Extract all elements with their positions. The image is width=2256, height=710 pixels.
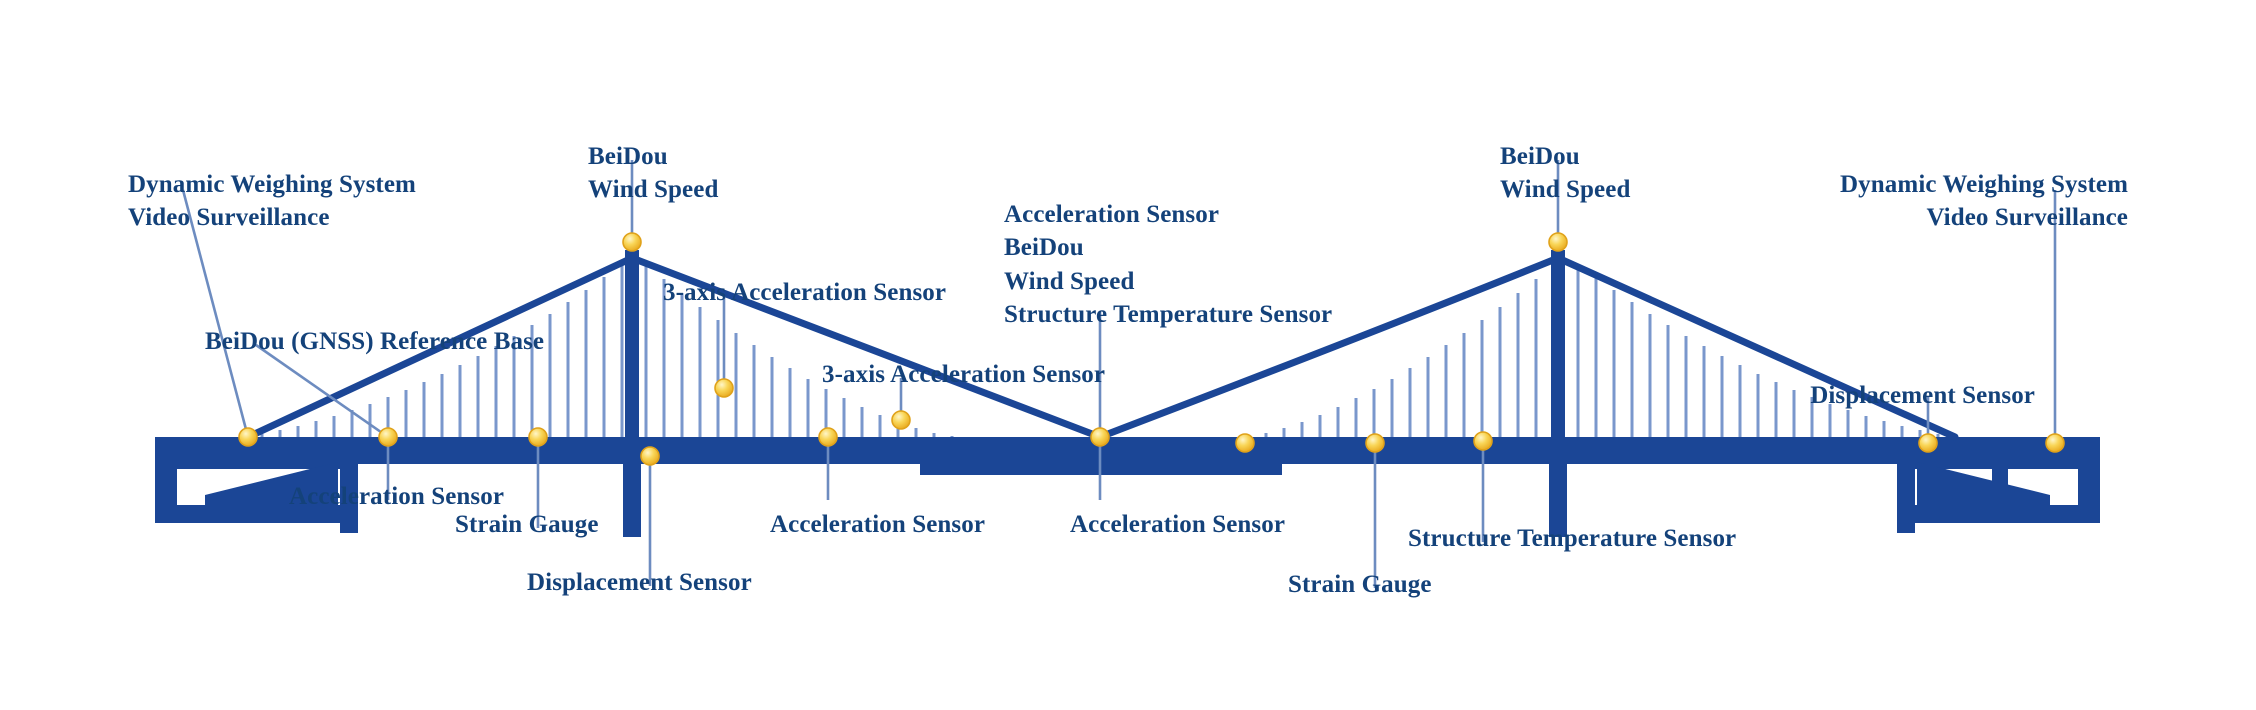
label-line: Video Surveillance bbox=[128, 201, 416, 234]
marker-weigh-right[interactable] bbox=[2046, 434, 2064, 452]
label-line: Strain Gauge bbox=[455, 508, 599, 541]
label-line: 3-axis Acceleration Sensor bbox=[822, 358, 1105, 391]
marker-pylon-top-right[interactable] bbox=[1549, 233, 1567, 251]
marker-accel-right[interactable] bbox=[1236, 434, 1254, 452]
marker-3axis-mid[interactable] bbox=[892, 411, 910, 429]
marker-strain-right[interactable] bbox=[1366, 434, 1384, 452]
label-line: Dynamic Weighing System bbox=[128, 168, 416, 201]
label-dynamic-weighing-left: Dynamic Weighing SystemVideo Surveillanc… bbox=[128, 168, 416, 235]
label-line: Structure Temperature Sensor bbox=[1408, 522, 1736, 555]
right-abutment-outer-wall bbox=[2078, 437, 2100, 515]
right-pylon-tower bbox=[1551, 250, 1565, 445]
label-line: BeiDou bbox=[1004, 231, 1332, 264]
label-beidou-wind-speed-left: BeiDouWind Speed bbox=[588, 140, 718, 207]
label-line: Dynamic Weighing System bbox=[1840, 168, 2128, 201]
label-line: BeiDou bbox=[588, 140, 718, 173]
left-abutment-top-beam bbox=[155, 455, 340, 469]
marker-strain-left[interactable] bbox=[529, 428, 547, 446]
label-line: BeiDou bbox=[1500, 140, 1630, 173]
left-pylon-tower bbox=[625, 250, 639, 445]
left-pylon-pier bbox=[623, 437, 641, 537]
label-line: Acceleration Sensor bbox=[1070, 508, 1285, 541]
label-line: Acceleration Sensor bbox=[770, 508, 985, 541]
marker-accel-left[interactable] bbox=[819, 428, 837, 446]
left-abutment-outer-wall bbox=[155, 437, 177, 515]
label-line: Wind Speed bbox=[1004, 265, 1332, 298]
label-strain-gauge-left: Strain Gauge bbox=[455, 508, 599, 541]
marker-3axis-left[interactable] bbox=[715, 379, 733, 397]
label-structure-temperature-sensor-right: Structure Temperature Sensor bbox=[1408, 522, 1736, 555]
label-line: BeiDou (GNSS) Reference Base bbox=[205, 325, 544, 358]
label-line: Displacement Sensor bbox=[1810, 379, 2035, 412]
marker-pylon-top-left[interactable] bbox=[623, 233, 641, 251]
marker-gnss-left[interactable] bbox=[379, 428, 397, 446]
marker-displ-left[interactable] bbox=[641, 447, 659, 465]
label-line: Video Surveillance bbox=[1840, 201, 2128, 234]
marker-weigh-left[interactable] bbox=[239, 428, 257, 446]
approach-piers-group bbox=[1921, 464, 1936, 520]
label-beidou-wind-speed-right: BeiDouWind Speed bbox=[1500, 140, 1630, 207]
marker-center[interactable] bbox=[1091, 428, 1109, 446]
bridge-diagram-canvas: Dynamic Weighing SystemVideo Surveillanc… bbox=[0, 0, 2256, 710]
label-line: Wind Speed bbox=[588, 173, 718, 206]
right-abutment-inner-pier bbox=[1992, 464, 2008, 520]
label-displacement-sensor-right: Displacement Sensor bbox=[1810, 379, 2035, 412]
pier-right-a bbox=[1921, 464, 1936, 520]
label-strain-gauge-right: Strain Gauge bbox=[1288, 568, 1432, 601]
label-line: 3-axis Acceleration Sensor bbox=[663, 276, 946, 309]
bridge-deck bbox=[155, 437, 2100, 464]
label-displacement-sensor-left: Displacement Sensor bbox=[527, 566, 752, 599]
label-line: Displacement Sensor bbox=[527, 566, 752, 599]
label-dynamic-weighing-right: Dynamic Weighing SystemVideo Surveillanc… bbox=[1840, 168, 2128, 235]
right-abutment-pier bbox=[1897, 437, 1915, 533]
marker-displ-right[interactable] bbox=[1919, 434, 1937, 452]
bridge-deck-group bbox=[155, 437, 2100, 475]
label-line: Strain Gauge bbox=[1288, 568, 1432, 601]
label-line: Structure Temperature Sensor bbox=[1004, 298, 1332, 331]
label-line: Acceleration Sensor bbox=[1004, 198, 1332, 231]
label-three-axis-acceleration-mid: 3-axis Acceleration Sensor bbox=[822, 358, 1105, 391]
label-center-multi-sensor: Acceleration SensorBeiDouWind SpeedStruc… bbox=[1004, 198, 1332, 331]
label-line: Wind Speed bbox=[1500, 173, 1630, 206]
label-acceleration-sensor-mid-right: Acceleration Sensor bbox=[1070, 508, 1285, 541]
label-beidou-gnss-reference-base: BeiDou (GNSS) Reference Base bbox=[205, 325, 544, 358]
marker-temp-right[interactable] bbox=[1474, 432, 1492, 450]
label-three-axis-acceleration-left: 3-axis Acceleration Sensor bbox=[663, 276, 946, 309]
label-acceleration-sensor-mid-left: Acceleration Sensor bbox=[770, 508, 985, 541]
